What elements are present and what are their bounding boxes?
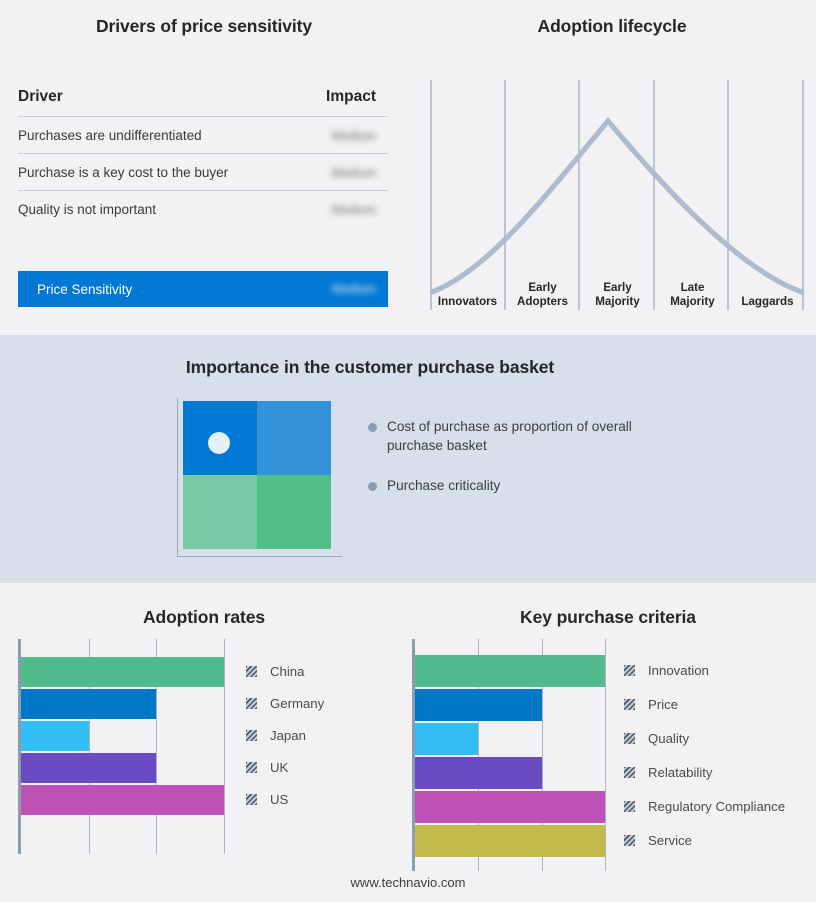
- bar-germany: [21, 689, 156, 719]
- bar-row: [415, 791, 605, 823]
- gridline: [605, 639, 606, 871]
- legend-item: Innovation: [624, 663, 709, 678]
- hatch-swatch-icon: [246, 794, 257, 805]
- lifecycle-stage-label: LateMajority: [655, 277, 730, 311]
- basket-position-marker: [208, 432, 230, 454]
- driver-impact-cell: Medium: [304, 191, 388, 228]
- bar-row: [21, 753, 224, 783]
- hatch-swatch-icon: [246, 698, 257, 709]
- hatch-swatch-icon: [246, 666, 257, 677]
- hatch-swatch-icon: [624, 733, 635, 744]
- bar-row: [415, 689, 605, 721]
- legend-item: Quality: [624, 731, 689, 746]
- drivers-of-price-sensitivity-panel: Drivers of price sensitivity Driver Impa…: [0, 0, 408, 335]
- legend-item: Japan: [246, 728, 306, 743]
- table-header-row: Driver Impact: [18, 88, 388, 117]
- lifecycle-stage-label-line: Early: [505, 281, 580, 295]
- hatch-swatch-icon: [624, 699, 635, 710]
- bar-uk: [21, 753, 156, 783]
- basket-legend-label: Cost of purchase as proportion of overal…: [387, 418, 635, 455]
- adoption-rates-chart: ChinaGermanyJapanUKUS: [18, 639, 388, 854]
- legend-item: Relatability: [624, 765, 713, 780]
- column-header-driver: Driver: [18, 88, 304, 117]
- legend-item: Regulatory Compliance: [624, 799, 785, 814]
- legend-item: UK: [246, 760, 288, 775]
- table-row: Purchases are undifferentiatedMedium: [18, 117, 388, 154]
- hatch-swatch-icon: [624, 835, 635, 846]
- bar-service: [415, 825, 605, 857]
- legend-item: Service: [624, 833, 692, 848]
- adoption-lifecycle-panel: Adoption lifecycle InnovatorsEarlyAdopte…: [408, 0, 816, 335]
- bar-row: [415, 655, 605, 687]
- table-row: Quality is not importantMedium: [18, 191, 388, 228]
- legend-item: China: [246, 664, 304, 679]
- bar-japan: [21, 721, 89, 751]
- legend-label: Germany: [270, 696, 324, 711]
- basket-quadrant-matrix: [183, 401, 331, 549]
- basket-matrix-y-axis: [177, 398, 178, 556]
- lifecycle-stage-label: Innovators: [430, 277, 505, 311]
- bar-price: [415, 689, 542, 721]
- impact-value-redacted: Medium: [332, 129, 376, 143]
- adoption-rates-title: Adoption rates: [0, 607, 408, 628]
- lifecycle-stage-label-row: InnovatorsEarlyAdoptersEarlyMajorityLate…: [430, 277, 805, 311]
- lifecycle-panel-title: Adoption lifecycle: [408, 16, 816, 37]
- drivers-panel-title: Drivers of price sensitivity: [0, 16, 408, 37]
- table-row: Purchase is a key cost to the buyerMediu…: [18, 154, 388, 191]
- bar-row: [415, 757, 605, 789]
- price-sensitivity-impact-value: Medium: [332, 282, 376, 296]
- bar-row: [21, 689, 224, 719]
- adoption-curve: [432, 121, 802, 292]
- legend-item: Germany: [246, 696, 324, 711]
- price-sensitivity-summary-row: Price Sensitivity Medium: [18, 271, 388, 307]
- bar-innovation: [415, 655, 605, 687]
- adoption-rates-legend: ChinaGermanyJapanUKUS: [246, 639, 386, 854]
- bar-row: [21, 721, 224, 751]
- adoption-plot-area: [18, 639, 221, 854]
- hatch-swatch-icon: [624, 801, 635, 812]
- lifecycle-stage-label: Laggards: [730, 277, 805, 311]
- lifecycle-stage-label: EarlyMajority: [580, 277, 655, 311]
- key-purchase-criteria-title: Key purchase criteria: [400, 607, 816, 628]
- legend-label: Quality: [648, 731, 689, 746]
- drivers-table: Driver Impact Purchases are undifferenti…: [18, 88, 388, 227]
- basket-matrix-x-axis: [177, 556, 342, 557]
- driver-name-cell: Purchase is a key cost to the buyer: [18, 154, 304, 191]
- legend-item: US: [246, 792, 288, 807]
- bar-row: [21, 657, 224, 687]
- basket-legend: Cost of purchase as proportion of overal…: [368, 418, 668, 518]
- impact-value-redacted: Medium: [332, 166, 376, 180]
- hatch-swatch-icon: [624, 665, 635, 676]
- impact-value-redacted: Medium: [332, 203, 376, 217]
- driver-impact-cell: Medium: [304, 117, 388, 154]
- lifecycle-bell-curve-plot: [430, 80, 805, 310]
- lifecycle-stage-label-line: Majority: [580, 295, 655, 309]
- bar-quality: [415, 723, 478, 755]
- hatch-swatch-icon: [246, 762, 257, 773]
- bar-us: [21, 785, 224, 815]
- quadrant-top-right: [257, 401, 331, 475]
- hatch-swatch-icon: [624, 767, 635, 778]
- hatch-swatch-icon: [246, 730, 257, 741]
- criteria-plot-area: [412, 639, 602, 871]
- bar-relatability: [415, 757, 542, 789]
- legend-label: Relatability: [648, 765, 713, 780]
- bar-row: [21, 785, 224, 815]
- lifecycle-svg: [430, 80, 805, 310]
- basket-legend-label: Purchase criticality: [387, 477, 500, 496]
- key-purchase-criteria-chart: InnovationPriceQualityRelatabilityRegula…: [412, 639, 812, 871]
- basket-legend-item: Purchase criticality: [368, 477, 668, 496]
- basket-panel-title: Importance in the customer purchase bask…: [0, 357, 740, 378]
- bar-china: [21, 657, 224, 687]
- legend-label: Price: [648, 697, 678, 712]
- legend-label: Service: [648, 833, 692, 848]
- bar-row: [415, 825, 605, 857]
- legend-label: Innovation: [648, 663, 709, 678]
- driver-name-cell: Quality is not important: [18, 191, 304, 228]
- driver-name-cell: Purchases are undifferentiated: [18, 117, 304, 154]
- adoption-rates-panel: Adoption rates ChinaGermanyJapanUKUS: [0, 583, 408, 902]
- lifecycle-stage-label-line: Innovators: [430, 295, 505, 309]
- quadrant-bottom-right: [257, 475, 331, 549]
- legend-label: US: [270, 792, 288, 807]
- lifecycle-gridlines: [431, 80, 803, 310]
- driver-impact-cell: Medium: [304, 154, 388, 191]
- legend-label: Regulatory Compliance: [648, 799, 785, 814]
- lifecycle-stage-label: EarlyAdopters: [505, 277, 580, 311]
- key-purchase-criteria-legend: InnovationPriceQualityRelatabilityRegula…: [624, 639, 814, 871]
- lifecycle-stage-label-line: Majority: [655, 295, 730, 309]
- gridline: [224, 639, 225, 854]
- lifecycle-stage-label-line: Adopters: [505, 295, 580, 309]
- bullet-icon: [368, 482, 377, 491]
- legend-label: UK: [270, 760, 288, 775]
- bar-row: [415, 723, 605, 755]
- quadrant-bottom-left: [183, 475, 257, 549]
- lifecycle-stage-label-line: Laggards: [730, 295, 805, 309]
- bullet-icon: [368, 423, 377, 432]
- key-purchase-criteria-panel: Key purchase criteria InnovationPriceQua…: [400, 583, 816, 902]
- lifecycle-stage-label-line: Early: [580, 281, 655, 295]
- basket-legend-item: Cost of purchase as proportion of overal…: [368, 418, 668, 455]
- footer-url: www.technavio.com: [0, 875, 816, 890]
- legend-label: China: [270, 664, 304, 679]
- legend-item: Price: [624, 697, 678, 712]
- price-sensitivity-label: Price Sensitivity: [37, 282, 132, 297]
- bar-regulatory-compliance: [415, 791, 605, 823]
- legend-label: Japan: [270, 728, 306, 743]
- lifecycle-stage-label-line: Late: [655, 281, 730, 295]
- column-header-impact: Impact: [304, 88, 388, 117]
